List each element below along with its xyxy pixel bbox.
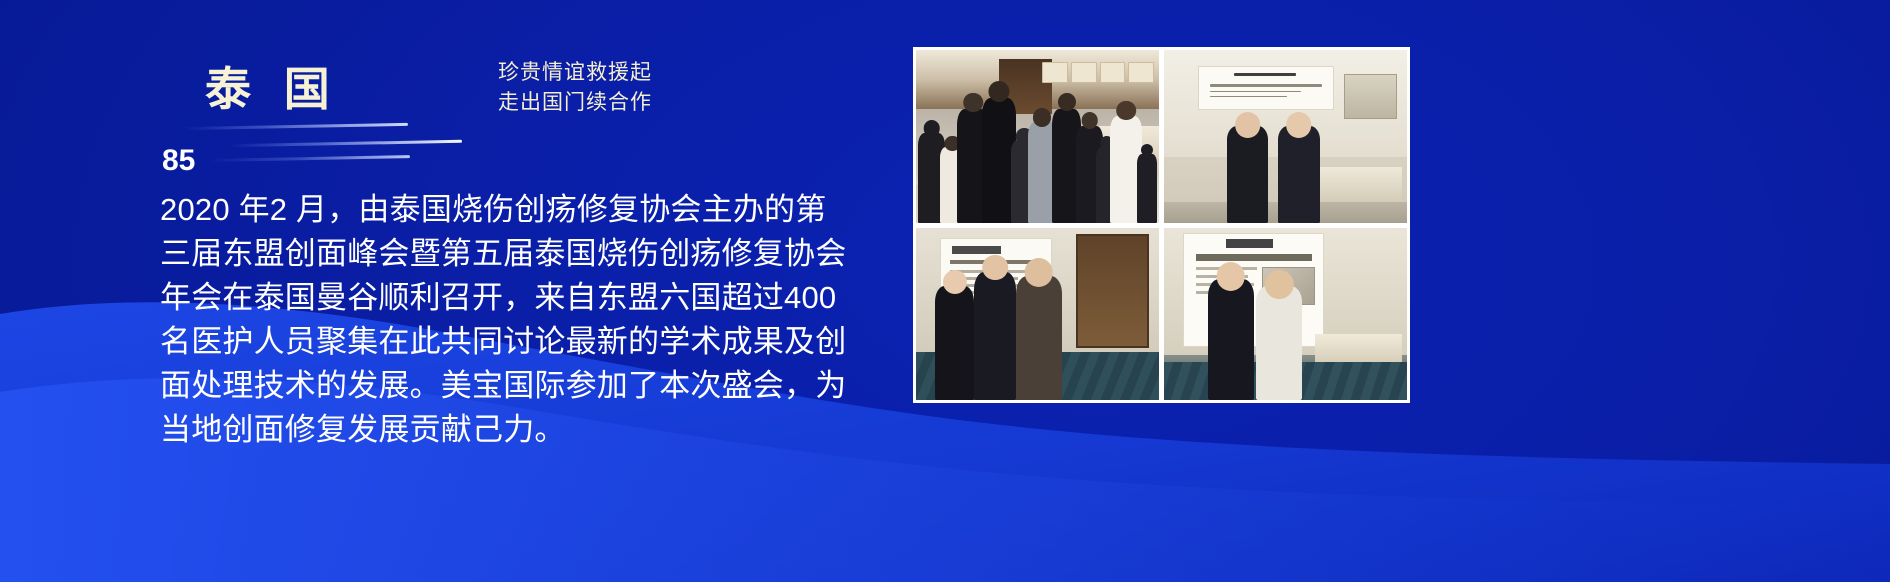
center-caption-block: 珍贵情谊救援起 走出国门续合作 — [450, 58, 700, 118]
photo-expo-hall-crowd — [916, 50, 1159, 223]
caption-line-1: 珍贵情谊救援起 — [450, 58, 700, 88]
photo-two-women-booth — [1164, 50, 1407, 223]
decorative-line-1 — [184, 123, 408, 130]
body-paragraph: 2020 年2 月，由泰国烧伤创疡修复协会主办的第三届东盟创面峰会暨第五届泰国烧… — [160, 188, 850, 452]
decorative-diagonal-lines — [150, 118, 590, 168]
decorative-line-2 — [230, 140, 462, 147]
page-number: 85 — [162, 146, 195, 176]
decorative-line-3 — [210, 155, 410, 162]
slide-root: 泰 国 85 2020 年2 月，由泰国烧伤创疡修复协会主办的第三届东盟创面峰会… — [0, 0, 1890, 582]
caption-line-2: 走出国门续合作 — [450, 88, 700, 118]
photo-collage — [913, 47, 1410, 403]
photo-two-men-banner — [1164, 228, 1407, 401]
photo-group-of-three — [916, 228, 1159, 401]
